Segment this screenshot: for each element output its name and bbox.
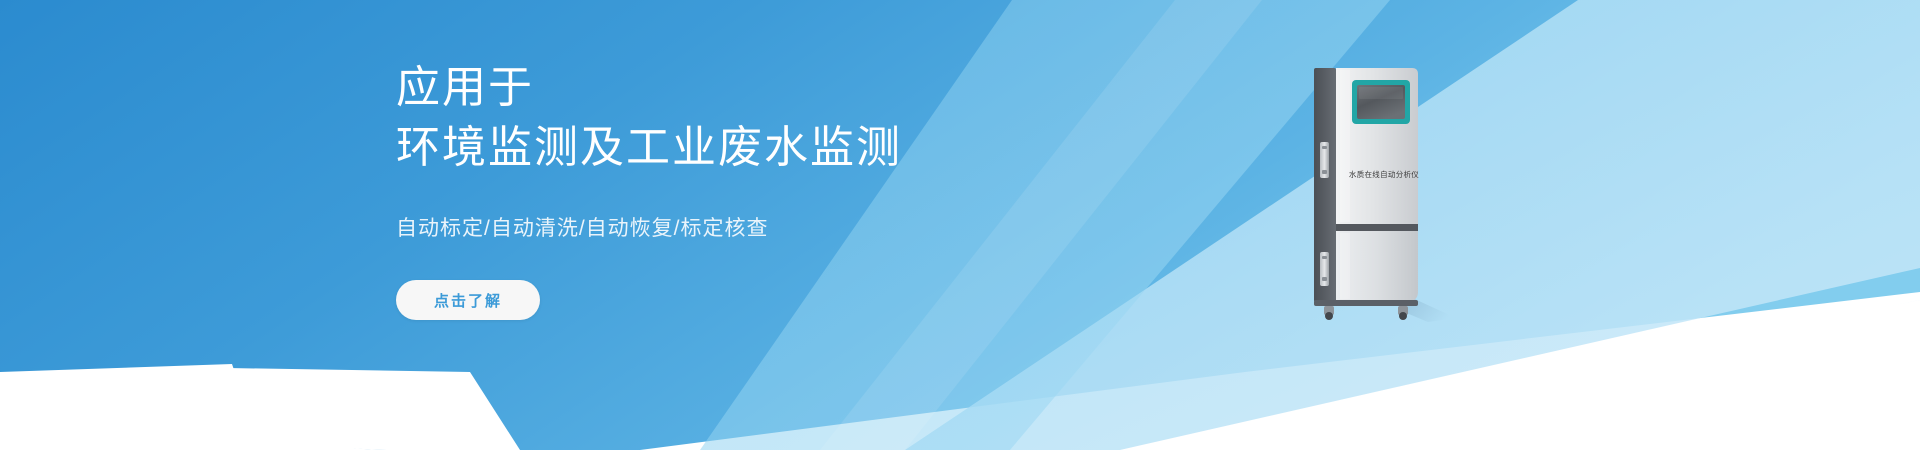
- learn-more-button[interactable]: 点击了解: [396, 280, 540, 320]
- page-title: 应用于 环境监测及工业废水监测: [396, 58, 1216, 178]
- product-image: [1308, 64, 1458, 324]
- castor-wheels: [1324, 306, 1408, 320]
- front-sheen-lower: [1340, 233, 1350, 299]
- lower-handle-lock: [1322, 277, 1327, 281]
- cabinet-base: [1314, 300, 1418, 306]
- upper-handle-lock: [1322, 170, 1327, 174]
- analyzer-cabinet-icon: [1308, 64, 1458, 324]
- banner-content: 应用于 环境监测及工业废水监测 自动标定/自动清洗/自动恢复/标定核查 点击了解: [396, 58, 1216, 320]
- upper-handle-detail: [1322, 146, 1327, 149]
- cabinet-divider: [1336, 224, 1418, 231]
- headline-line-2: 环境监测及工业废水监测: [396, 118, 1216, 178]
- display-glare: [1359, 87, 1403, 99]
- lower-handle-detail: [1322, 256, 1327, 259]
- hero-banner: 应用于 环境监测及工业废水监测 自动标定/自动清洗/自动恢复/标定核查 点击了解: [0, 0, 1920, 450]
- headline-line-1: 应用于: [396, 58, 1216, 118]
- front-sheen: [1340, 70, 1350, 222]
- banner-subtitle: 自动标定/自动清洗/自动恢复/标定核查: [396, 178, 1216, 244]
- cta-container: 点击了解: [396, 244, 1216, 320]
